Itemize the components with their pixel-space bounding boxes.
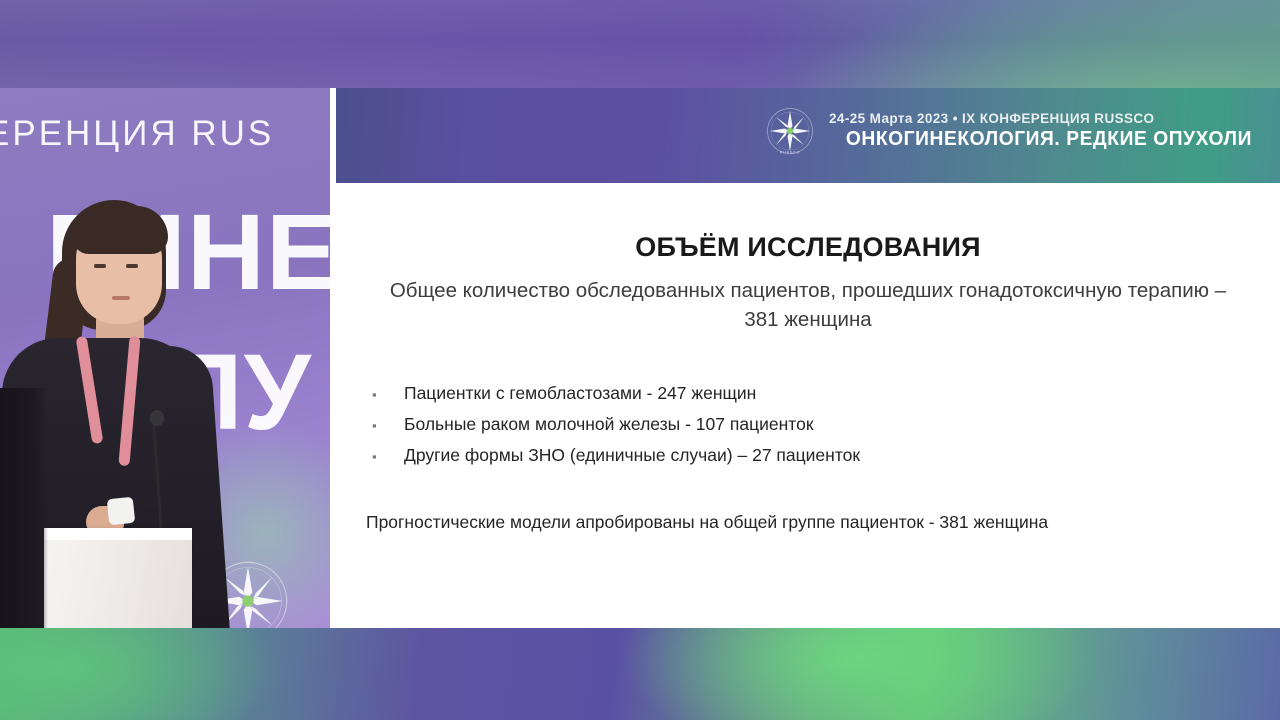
list-item: ▪ Другие формы ЗНО (единичные случаи) – … [366,445,1246,476]
bullet-marker-icon: ▪ [366,450,404,463]
bullet-list: ▪ Пациентки с гемобластозами - 247 женщи… [366,383,1246,476]
bullet-marker-icon: ▪ [366,419,404,432]
top-decorative-band [0,0,1280,88]
speaker-hair-front [72,206,168,254]
list-item-label: Пациентки с гемобластозами - 247 женщин [404,383,756,405]
speaker-badge [107,497,136,526]
speaker-video-panel[interactable]: ЕРЕНЦИЯ RUS ГИНЕКО ОПУ RUSSCO 24-25 Март… [0,88,330,628]
podium-top-edge [44,528,192,540]
slide-subtitle: Общее количество обследованных пациентов… [388,276,1228,334]
presentation-slide[interactable]: RUSSCO 24-25 Марта 2023 • IX КОНФЕРЕНЦИЯ… [336,88,1280,628]
slide-title: ОБЪЁМ ИССЛЕДОВАНИЯ [336,232,1280,263]
speaker-figure [0,88,330,628]
presentation-stream-stage: ЕРЕНЦИЯ RUS ГИНЕКО ОПУ RUSSCO 24-25 Март… [0,0,1280,720]
conference-date-line: 24-25 Марта 2023 • IX КОНФЕРЕНЦИЯ RUSSCO [829,111,1252,126]
microphone-head-icon [150,410,164,426]
russco-star-logo-icon: RUSSCO [765,106,815,156]
left-shadow-overlay [0,388,48,628]
slide-header-band: RUSSCO 24-25 Марта 2023 • IX КОНФЕРЕНЦИЯ… [336,88,1280,183]
list-item-label: Больные раком молочной железы - 107 паци… [404,414,813,436]
svg-text:RUSSCO: RUSSCO [780,151,801,155]
speaker-mouth [112,296,130,300]
slide-header-content: RUSSCO 24-25 Марта 2023 • IX КОНФЕРЕНЦИЯ… [765,106,1252,156]
bottom-decorative-band [0,628,1280,720]
podium [44,528,192,628]
closing-note: Прогностические модели апробированы на о… [366,512,1048,533]
conference-title-line: ОНКОГИНЕКОЛОГИЯ. РЕДКИЕ ОПУХОЛИ [846,128,1252,151]
speaker-eye-left [94,264,106,268]
list-item-label: Другие формы ЗНО (единичные случаи) – 27… [404,445,860,467]
slide-body: ОБЪЁМ ИССЛЕДОВАНИЯ Общее количество обсл… [336,183,1280,628]
top-band-sheen [0,0,1280,88]
slide-header-texts: 24-25 Марта 2023 • IX КОНФЕРЕНЦИЯ RUSSCO… [829,111,1252,151]
list-item: ▪ Больные раком молочной железы - 107 па… [366,414,1246,445]
list-item: ▪ Пациентки с гемобластозами - 247 женщи… [366,383,1246,414]
bullet-marker-icon: ▪ [366,388,404,401]
speaker-eye-right [126,264,138,268]
